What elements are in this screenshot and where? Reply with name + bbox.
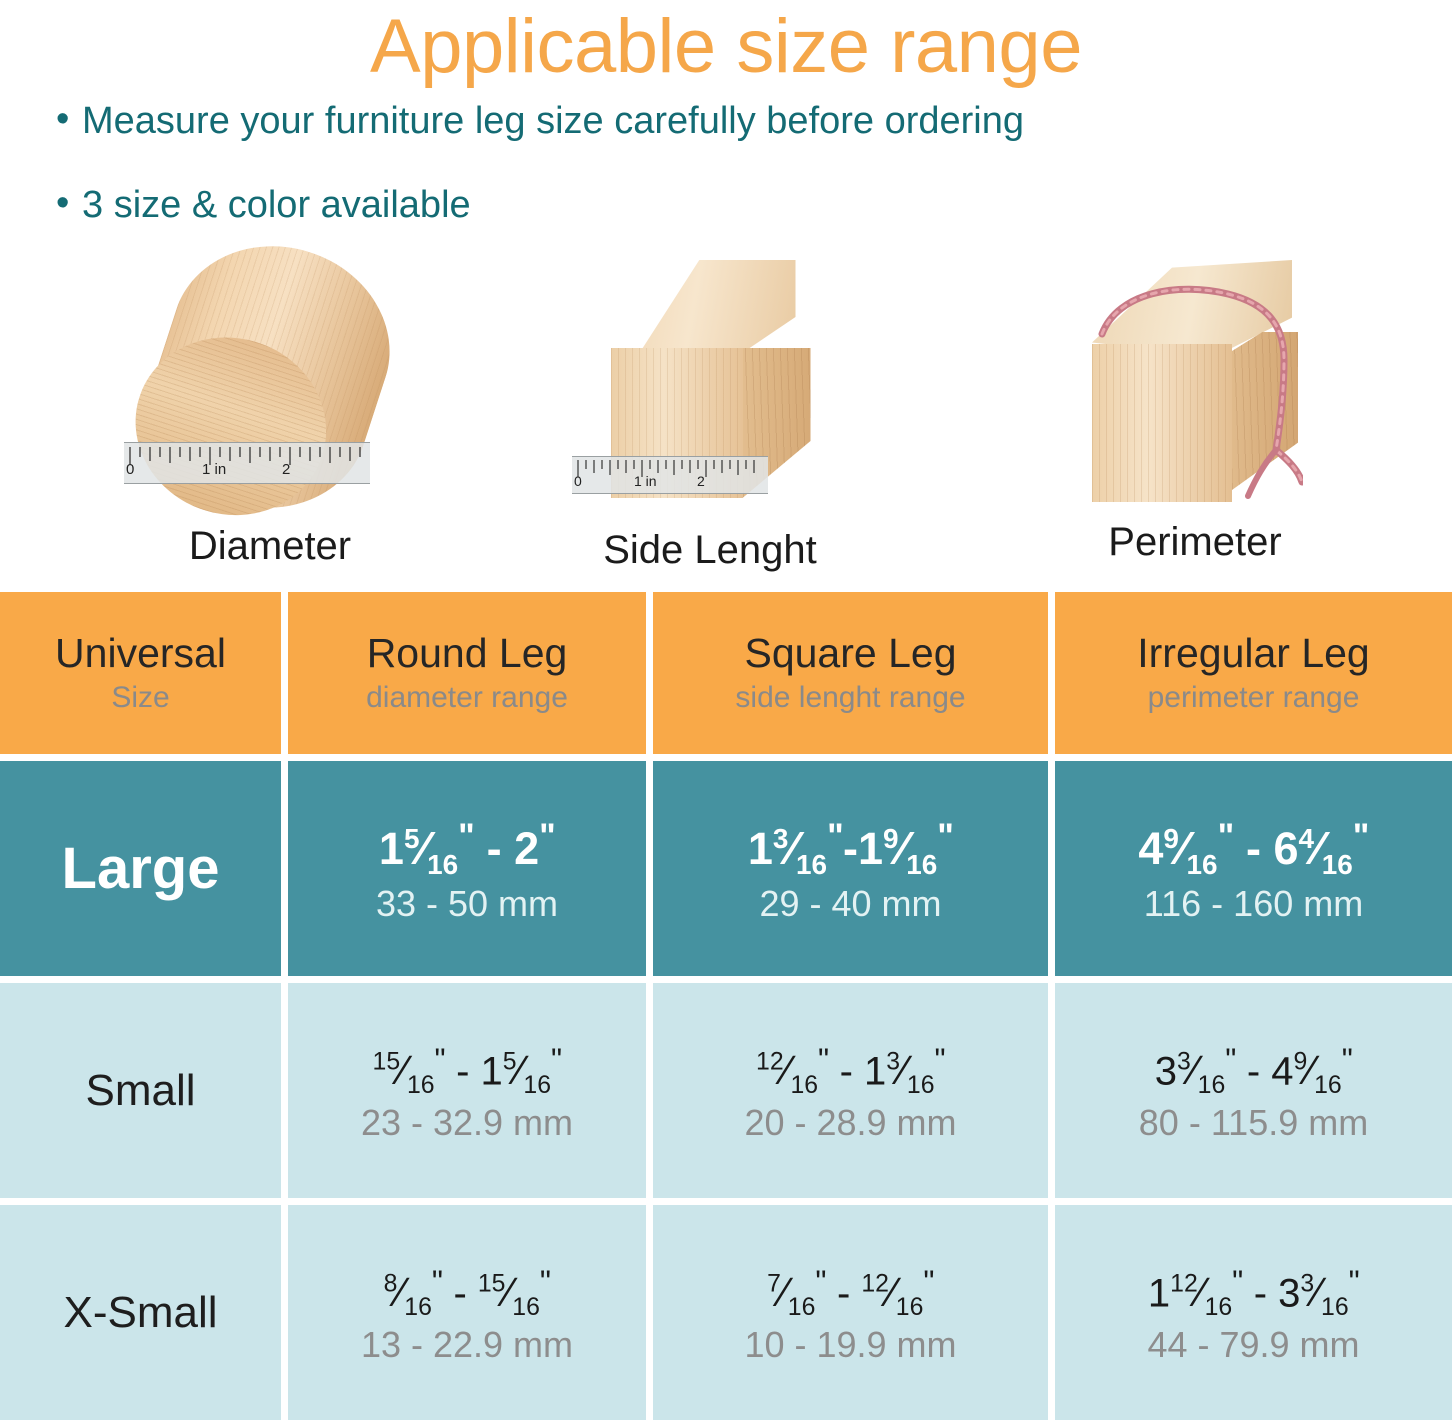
value-mm: 116 - 160 mm — [1144, 882, 1363, 926]
value-inch: 7⁄16" - 12⁄16" — [767, 1258, 934, 1321]
illustration-side-length: 0 1 in 2 Side Lenght — [560, 256, 860, 572]
table-row: X-Small 8⁄16" - 15⁄16" 13 - 22.9 mm 7⁄16… — [0, 1205, 1452, 1420]
value-inch: 33⁄16" - 49⁄16" — [1155, 1036, 1352, 1099]
illustration-caption: Diameter — [120, 524, 420, 568]
size-cell-small: Small — [0, 983, 281, 1198]
value-mm: 20 - 28.9 mm — [744, 1101, 956, 1145]
value-cell-xsmall-square: 7⁄16" - 12⁄16" 10 - 19.9 mm — [653, 1205, 1048, 1420]
table-header-round-leg: Round Leg diameter range — [288, 592, 646, 754]
value-cell-small-square: 12⁄16" - 13⁄16" 20 - 28.9 mm — [653, 983, 1048, 1198]
size-cell-large: Large — [0, 761, 281, 976]
size-cell-xsmall: X-Small — [0, 1205, 281, 1420]
value-inch: 49⁄16" - 64⁄16" — [1138, 811, 1368, 879]
round-wood-leg-icon — [125, 218, 415, 535]
size-label: Large — [62, 838, 220, 900]
header-main: Round Leg — [367, 629, 568, 677]
table-row: Small 15⁄16" - 15⁄16" 23 - 32.9 mm 12⁄16… — [0, 983, 1452, 1198]
value-cell-xsmall-irregular: 112⁄16" - 33⁄16" 44 - 79.9 mm — [1055, 1205, 1452, 1420]
illustration-perimeter: Perimeter — [1035, 260, 1355, 564]
illustration-strip: 0 1 in 2 Diameter — [0, 246, 1452, 576]
size-chart-table: Universal Size Round Leg diameter range … — [0, 592, 1452, 1427]
value-mm: 23 - 32.9 mm — [361, 1101, 573, 1145]
value-cell-xsmall-round: 8⁄16" - 15⁄16" 13 - 22.9 mm — [288, 1205, 646, 1420]
value-inch: 12⁄16" - 13⁄16" — [756, 1036, 945, 1099]
value-cell-small-round: 15⁄16" - 15⁄16" 23 - 32.9 mm — [288, 983, 646, 1198]
ruler-icon: 0 1 in 2 — [572, 456, 768, 494]
value-mm: 44 - 79.9 mm — [1147, 1323, 1359, 1367]
illustration-caption: Perimeter — [1035, 520, 1355, 564]
header-sub: diameter range — [366, 679, 568, 717]
value-mm: 29 - 40 mm — [759, 882, 941, 926]
value-mm: 33 - 50 mm — [376, 882, 558, 926]
irregular-side-face — [1232, 332, 1298, 490]
cube-top-face — [611, 260, 796, 352]
illustration-caption: Side Lenght — [560, 528, 860, 572]
table-header-irregular-leg: Irregular Leg perimeter range — [1055, 592, 1452, 754]
value-inch: 8⁄16" - 15⁄16" — [384, 1258, 551, 1321]
irregular-front-face — [1092, 344, 1232, 502]
bullet-list: • Measure your furniture leg size carefu… — [0, 96, 1452, 230]
header-main: Square Leg — [744, 629, 956, 677]
bullet-dot-icon: • — [56, 96, 82, 142]
ruler-label-1in: 1 in — [634, 473, 657, 489]
ruler-label-0: 0 — [574, 473, 582, 489]
value-inch: 15⁄16" - 2" — [379, 811, 555, 879]
illustration-diameter: 0 1 in 2 Diameter — [120, 246, 420, 568]
ruler-label-1in: 1 in — [202, 461, 226, 478]
header-sub: side lenght range — [735, 679, 965, 717]
ruler-label-2: 2 — [697, 473, 705, 489]
value-cell-large-round: 15⁄16" - 2" 33 - 50 mm — [288, 761, 646, 976]
ruler-label-2: 2 — [282, 461, 290, 478]
value-mm: 10 - 19.9 mm — [744, 1323, 956, 1367]
size-label: Small — [85, 1066, 195, 1116]
header-main: Irregular Leg — [1137, 629, 1369, 677]
value-cell-large-irregular: 49⁄16" - 64⁄16" 116 - 160 mm — [1055, 761, 1452, 976]
table-header-universal-size: Universal Size — [0, 592, 281, 754]
value-cell-small-irregular: 33⁄16" - 49⁄16" 80 - 115.9 mm — [1055, 983, 1452, 1198]
ruler-icon: 0 1 in 2 — [124, 442, 370, 484]
irregular-wood-leg-icon — [1080, 260, 1310, 508]
bullet-text: 3 size & color available — [82, 180, 471, 230]
table-row: Large 15⁄16" - 2" 33 - 50 mm 13⁄16"-19⁄1… — [0, 761, 1452, 976]
header-sub: perimeter range — [1148, 679, 1360, 717]
page-title: Applicable size range — [0, 0, 1452, 90]
bullet-text: Measure your furniture leg size carefull… — [82, 96, 1024, 146]
value-mm: 13 - 22.9 mm — [361, 1323, 573, 1367]
value-inch: 15⁄16" - 15⁄16" — [373, 1036, 562, 1099]
header-sub: Size — [111, 679, 169, 717]
value-cell-large-square: 13⁄16"-19⁄16" 29 - 40 mm — [653, 761, 1048, 976]
ruler-label-0: 0 — [126, 461, 134, 478]
table-header-row: Universal Size Round Leg diameter range … — [0, 592, 1452, 754]
value-inch: 13⁄16"-19⁄16" — [748, 811, 953, 879]
value-mm: 80 - 115.9 mm — [1139, 1101, 1368, 1145]
header-main: Universal — [55, 629, 226, 677]
table-header-square-leg: Square Leg side lenght range — [653, 592, 1048, 754]
bullet-dot-icon: • — [56, 180, 82, 226]
size-label: X-Small — [63, 1288, 217, 1338]
value-inch: 112⁄16" - 33⁄16" — [1148, 1258, 1359, 1321]
list-item: • Measure your furniture leg size carefu… — [0, 96, 1452, 146]
